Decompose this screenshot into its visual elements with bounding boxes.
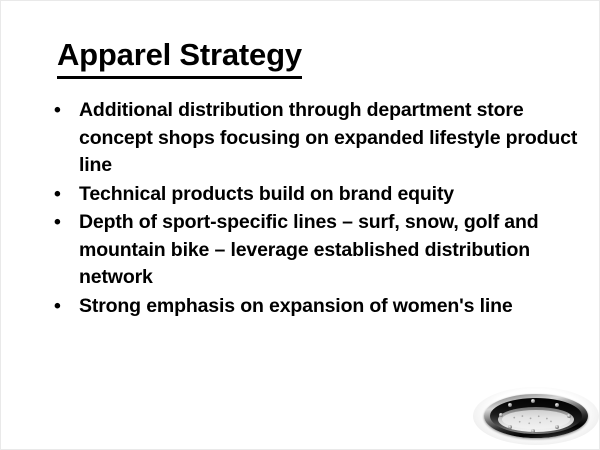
bullet-marker-icon: • xyxy=(54,181,68,209)
emblem-bolt-icon xyxy=(508,425,512,429)
list-item-text: Technical products build on brand equity xyxy=(79,181,579,209)
slide-canvas: Apparel Strategy • Additional distributi… xyxy=(0,0,600,450)
bullet-list: • Additional distribution through depart… xyxy=(49,97,579,321)
bullet-marker-icon: • xyxy=(54,97,68,125)
list-item: • Depth of sport-specific lines – surf, … xyxy=(49,209,579,292)
emblem-bolt-icon xyxy=(499,413,503,417)
list-item: • Strong emphasis on expansion of women'… xyxy=(49,293,579,321)
emblem-outer-ring xyxy=(484,394,588,438)
list-item: • Additional distribution through depart… xyxy=(49,97,579,180)
emblem-bolt-icon xyxy=(555,425,559,429)
emblem-bolt-icon xyxy=(531,399,535,403)
list-item-text: Depth of sport-specific lines – surf, sn… xyxy=(79,209,579,292)
emblem-bolt-icon xyxy=(531,429,535,433)
emblem-dish-face xyxy=(502,410,570,429)
list-item-text: Additional distribution through departme… xyxy=(79,97,579,180)
emblem-bolt-icon xyxy=(555,403,559,407)
page-title-text: Apparel Strategy xyxy=(57,37,302,79)
list-item-text: Strong emphasis on expansion of women's … xyxy=(79,293,579,321)
bullet-marker-icon: • xyxy=(54,209,68,237)
bullet-marker-icon: • xyxy=(54,293,68,321)
emblem-bolt-icon xyxy=(508,403,512,407)
list-item: • Technical products build on brand equi… xyxy=(49,181,579,209)
chrome-oval-emblem-icon xyxy=(473,387,599,445)
emblem-bolt-icon xyxy=(567,414,571,418)
page-title: Apparel Strategy xyxy=(57,37,302,79)
